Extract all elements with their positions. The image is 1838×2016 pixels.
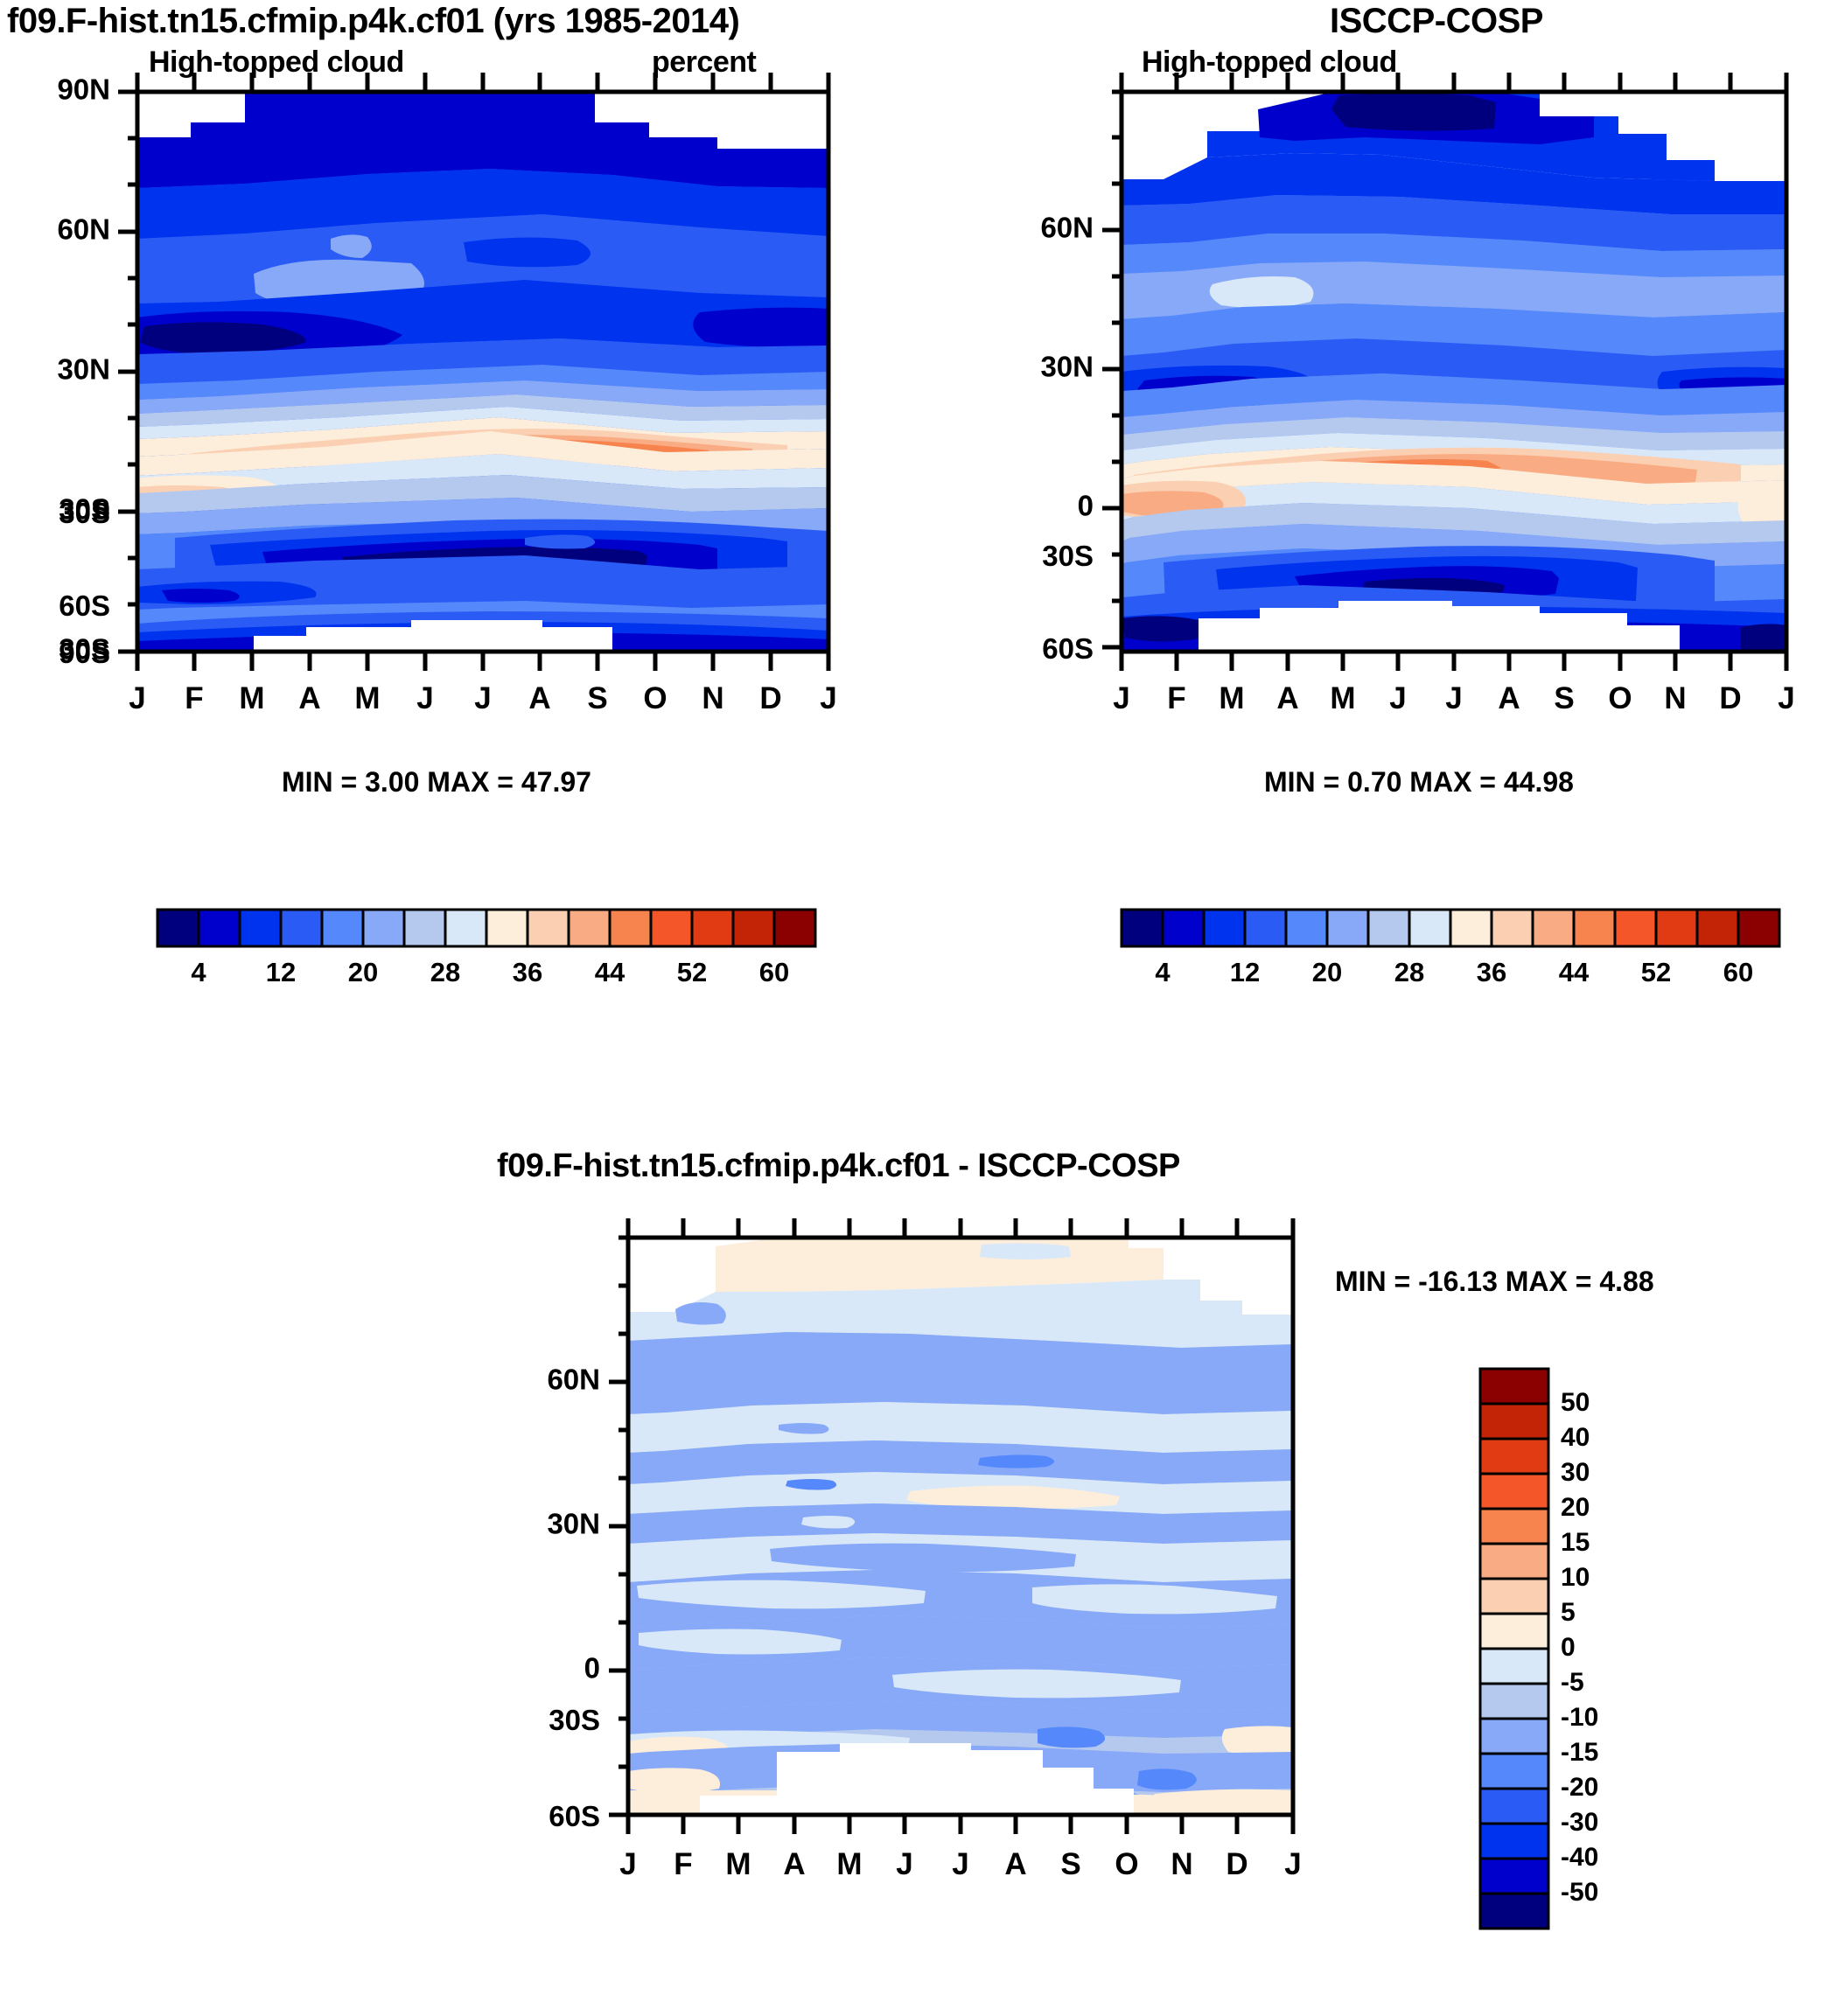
panel-model-contours [137,92,828,652]
panel-model-x-labels: J F M A M J J A S O N D J [129,681,836,715]
panel-difference-contours [628,1238,1293,1815]
x-label: O [643,681,667,715]
x-label: A [783,1847,805,1881]
cb-label: 60 [1723,957,1753,987]
panel-obs-title: ISCCP-COSP [1330,2,1543,41]
vcb-label: 40 [1561,1423,1590,1452]
x-label: M [239,681,264,715]
vcb-label: -20 [1561,1773,1598,1802]
cb-label: 12 [1230,957,1260,987]
panel-difference-x-labels: J F M A M J J A S O N D J [619,1847,1301,1881]
x-label: D [1226,1847,1247,1881]
cb-label: 4 [1155,957,1171,987]
panel-obs-minmax: MIN = 0.70 MAX = 44.98 [1264,766,1574,799]
colorbar-cells [157,910,815,946]
vcb-label: -10 [1561,1703,1598,1732]
x-label: S [1060,1847,1080,1881]
cb-label: 28 [1394,957,1424,987]
y-label: 30S [59,493,110,526]
panel-difference: f09.F-hist.tn15.cfmip.p4k.cf01 - ISCCP-C… [0,1128,1838,1981]
x-label: N [702,681,723,715]
y-label: 60N [1040,212,1094,244]
x-label: M [1330,681,1355,715]
panel-model-minmax: MIN = 3.00 MAX = 47.97 [282,766,591,799]
x-label: A [528,681,550,715]
x-label: J [1389,681,1406,715]
y-label: 30N [57,353,110,386]
panel-obs-x-labels: J F M A M J J A S O N D J [1113,681,1794,715]
cb-label: 4 [191,957,206,987]
cb-label: 44 [1559,957,1590,987]
vcb-label: -40 [1561,1843,1598,1872]
panel-difference-y-labels: 60N 30N 0 [547,1364,600,1685]
panel-difference-minmax: MIN = -16.13 MAX = 4.88 [1335,1266,1654,1298]
x-label: O [1608,681,1632,715]
vcb-label: 10 [1561,1563,1590,1592]
vertical-colorbar-labels: 50 40 30 20 15 10 5 0 -5 -10 -15 -20 -30… [1561,1388,1598,1907]
cb-label: 44 [595,957,625,987]
y-label: 30S [59,633,110,666]
y-label: 30N [547,1508,600,1540]
x-label: M [354,681,380,715]
x-label: F [1167,681,1185,715]
panel-model: f09.F-hist.tn15.cfmip.p4k.cf01 (yrs 1985… [0,0,875,1032]
x-label: J [1778,681,1794,715]
vcb-label: 20 [1561,1493,1590,1522]
panel-obs-contours [1122,92,1786,652]
x-label: J [474,681,491,715]
x-label: A [298,681,320,715]
x-label: A [1004,1847,1026,1881]
x-label: D [1719,681,1741,715]
x-label: J [619,1847,636,1881]
panel-obs: ISCCP-COSP High-topped cloud [927,0,1837,1032]
x-label: O [1115,1847,1138,1881]
x-label: D [759,681,781,715]
vcb-label: 5 [1561,1598,1576,1627]
colorbar-tick-labels: 4 12 20 28 36 44 52 60 [191,957,789,987]
x-label: J [416,681,433,715]
panel-obs-y-labels: 60N 30N 0 [1040,212,1094,522]
cb-label: 36 [513,957,542,987]
vcb-label: 0 [1561,1633,1576,1662]
cb-label: 20 [348,957,378,987]
x-label: F [185,681,203,715]
x-label: J [1445,681,1462,715]
panel-model-y-ticks [118,92,137,652]
x-label: S [1554,681,1574,715]
x-label: N [1664,681,1686,715]
panel-model-colorbar[interactable]: 4 12 20 28 36 44 52 60 [0,910,875,1015]
y-label: 60N [547,1364,600,1396]
cb-label: 28 [430,957,460,987]
colorbar-cells [1122,910,1779,946]
colorbar-tick-labels: 4 12 20 28 36 44 52 60 [1155,957,1753,987]
x-label: N [1171,1847,1192,1881]
vcb-label: -5 [1561,1668,1584,1697]
y-label: 30N [1040,351,1094,383]
panel-difference-y-ticks [609,1238,628,1815]
panel-difference-colorbar[interactable]: 50 40 30 20 15 10 5 0 -5 -10 -15 -20 -30… [1452,1369,1820,1999]
cb-label: 20 [1312,957,1342,987]
panel-model-plot: 90N 60N 30N 0 30S [0,83,875,958]
x-label: J [1284,1847,1301,1881]
panel-model-title: f09.F-hist.tn15.cfmip.p4k.cf01 (yrs 1985… [7,2,739,41]
y-label: 0 [584,1652,600,1685]
panel-model-y-labels: 90N 60N 30N 0 30S [57,73,110,666]
vcb-label: -30 [1561,1808,1598,1837]
x-label: J [896,1847,912,1881]
panel-difference-title: f09.F-hist.tn15.cfmip.p4k.cf01 - ISCCP-C… [497,1148,1180,1185]
x-label: M [836,1847,862,1881]
cb-label: 52 [1641,957,1671,987]
vcb-label: 15 [1561,1528,1590,1557]
cb-label: 52 [677,957,707,987]
cb-label: 36 [1477,957,1506,987]
y-label: 90N [57,73,110,106]
vcb-label: -50 [1561,1878,1598,1907]
x-label: A [1498,681,1520,715]
vertical-colorbar-cells [1480,1369,1548,1929]
cb-label: 60 [759,957,789,987]
x-label: J [1113,681,1129,715]
panel-obs-plot: 60N 30N 0 [927,83,1837,958]
x-label: S [587,681,607,715]
vcb-label: -15 [1561,1738,1598,1767]
panel-obs-y-ticks [1102,92,1122,647]
panel-obs-colorbar[interactable]: 4 12 20 28 36 44 52 60 [927,910,1837,1015]
y-label: 60N [57,213,110,246]
vcb-label: 30 [1561,1458,1590,1487]
x-label: M [725,1847,751,1881]
panel-obs-subtitle-left: High-topped cloud [1142,45,1397,80]
x-label: F [674,1847,692,1881]
panel-model-subtitle-right: percent [652,45,756,80]
x-label: J [820,681,836,715]
x-label: J [952,1847,968,1881]
y-label: 0 [1078,490,1094,522]
x-label: J [129,681,145,715]
cb-label: 12 [266,957,296,987]
vcb-label: 50 [1561,1388,1590,1417]
x-label: A [1276,681,1298,715]
x-label: M [1219,681,1244,715]
